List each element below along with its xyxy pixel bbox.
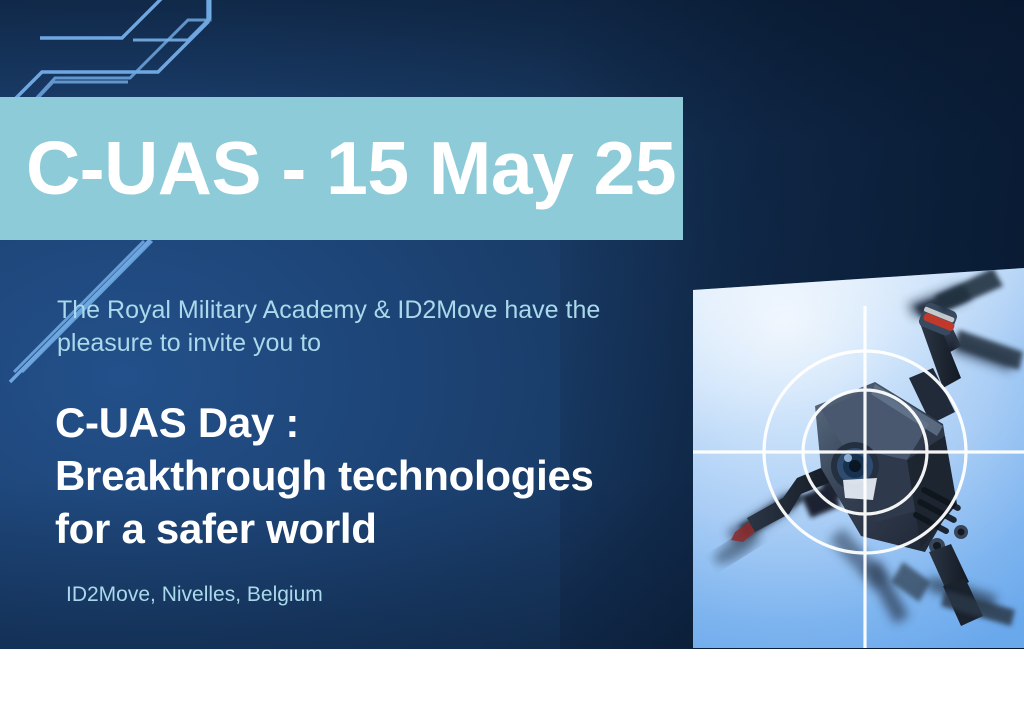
title-banner: C-UAS - 15 May 25 — [0, 97, 683, 240]
headline-line-1: C-UAS Day : — [55, 397, 695, 450]
drone-photo — [693, 260, 1024, 648]
footer-bar: ID 2M ve By CAP Innove RMA — [0, 649, 1024, 724]
headline-line-2: Breakthrough technologies — [55, 450, 695, 503]
headline-line-3: for a safer world — [55, 503, 695, 556]
venue-text: ID2Move, Nivelles, Belgium — [66, 583, 323, 607]
invitation-text: The Royal Military Academy & ID2Move hav… — [57, 294, 657, 360]
poster-canvas: C-UAS - 15 May 25 The Royal Military Aca… — [0, 0, 1024, 724]
event-headline: C-UAS Day : Breakthrough technologies fo… — [55, 397, 695, 556]
poster-title: C-UAS - 15 May 25 — [26, 131, 676, 206]
drone-and-reticle-graphic — [693, 260, 1024, 648]
